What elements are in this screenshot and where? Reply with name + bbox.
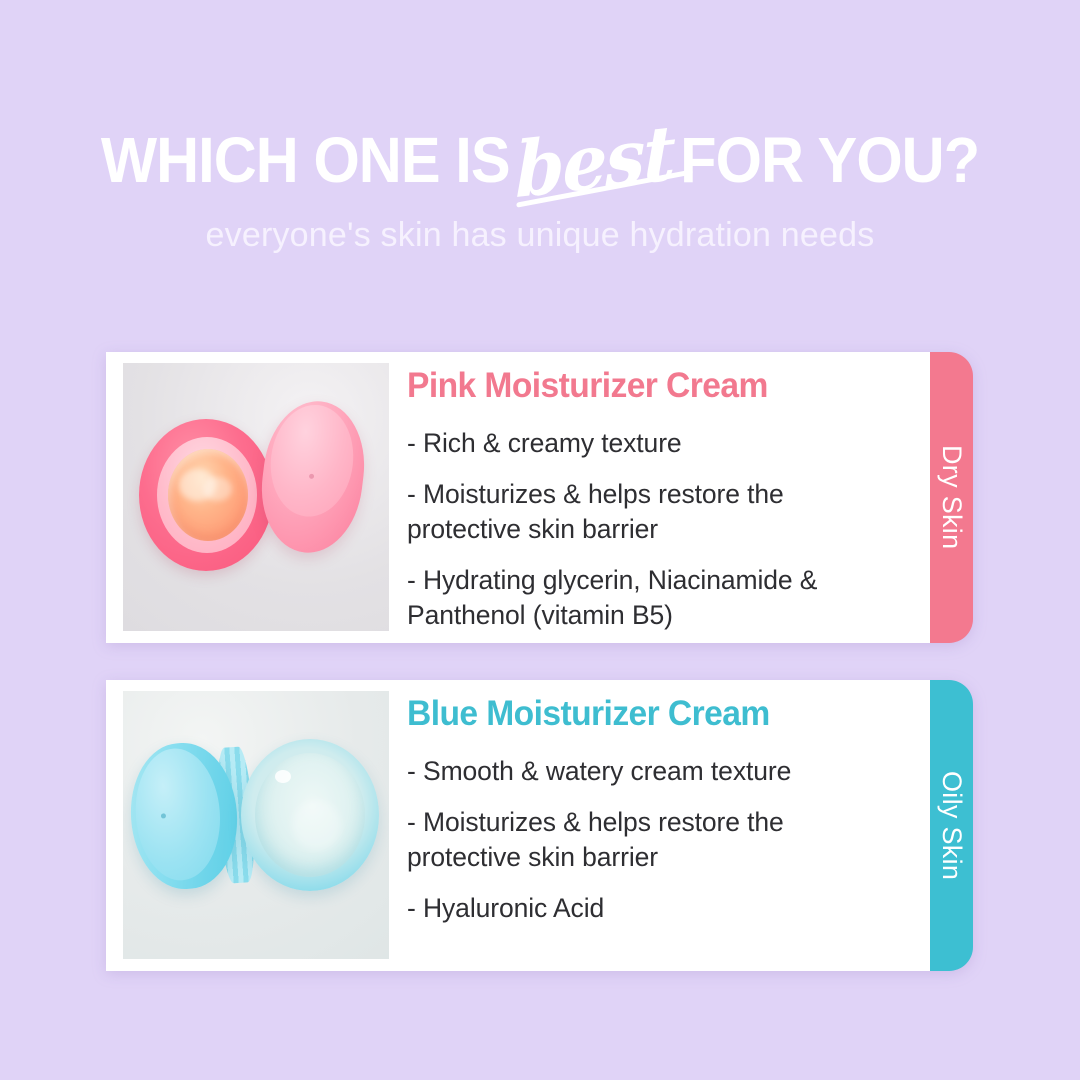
- pink-jar-rim-icon: [157, 437, 257, 553]
- headline-script-word: best: [510, 114, 680, 210]
- blue-jar-base-icon: [241, 739, 379, 891]
- product-feature-item: - Moisturizes & helps restore the protec…: [407, 477, 904, 548]
- skin-type-tab-label: Dry Skin: [936, 445, 967, 549]
- page-subheadline: everyone's skin has unique hydration nee…: [0, 216, 1080, 255]
- product-card-blue[interactable]: Blue Moisturizer Cream - Smooth & watery…: [106, 680, 973, 971]
- skin-type-tab-dry[interactable]: Dry Skin: [930, 352, 973, 643]
- product-title-pink: Pink Moisturizer Cream: [407, 366, 884, 406]
- page-headline: WHICH ONE ISbestFOR YOU?: [38, 118, 1042, 194]
- skin-type-tab-oily[interactable]: Oily Skin: [930, 680, 973, 971]
- pink-cream-surface-icon: [168, 449, 248, 541]
- card-info-blue: Blue Moisturizer Cream - Smooth & watery…: [389, 680, 930, 926]
- card-body-blue: Blue Moisturizer Cream - Smooth & watery…: [106, 680, 930, 971]
- product-feature-item: - Moisturizes & helps restore the protec…: [407, 805, 904, 876]
- product-image-pink: [123, 363, 389, 631]
- product-title-blue: Blue Moisturizer Cream: [407, 694, 884, 734]
- blue-gel-surface-icon: [255, 753, 365, 877]
- product-image-blue: [123, 691, 389, 959]
- skin-type-tab-label: Oily Skin: [936, 771, 967, 880]
- product-feature-item: - Smooth & watery cream texture: [407, 754, 904, 790]
- product-card-pink[interactable]: Pink Moisturizer Cream - Rich & creamy t…: [106, 352, 973, 643]
- headline-part-2: FOR YOU?: [680, 124, 979, 196]
- product-feature-item: - Hyaluronic Acid: [407, 891, 904, 927]
- pink-jar-base-icon: [139, 419, 273, 571]
- product-feature-item: - Rich & creamy texture: [407, 426, 904, 462]
- product-feature-item: - Hydrating glycerin, Niacinamide & Pant…: [407, 563, 904, 634]
- card-body-pink: Pink Moisturizer Cream - Rich & creamy t…: [106, 352, 930, 643]
- pink-jar-lid-icon: [254, 395, 372, 558]
- header: WHICH ONE ISbestFOR YOU? everyone's skin…: [0, 118, 1080, 255]
- headline-part-1: WHICH ONE IS: [101, 124, 510, 196]
- card-info-pink: Pink Moisturizer Cream - Rich & creamy t…: [389, 352, 930, 634]
